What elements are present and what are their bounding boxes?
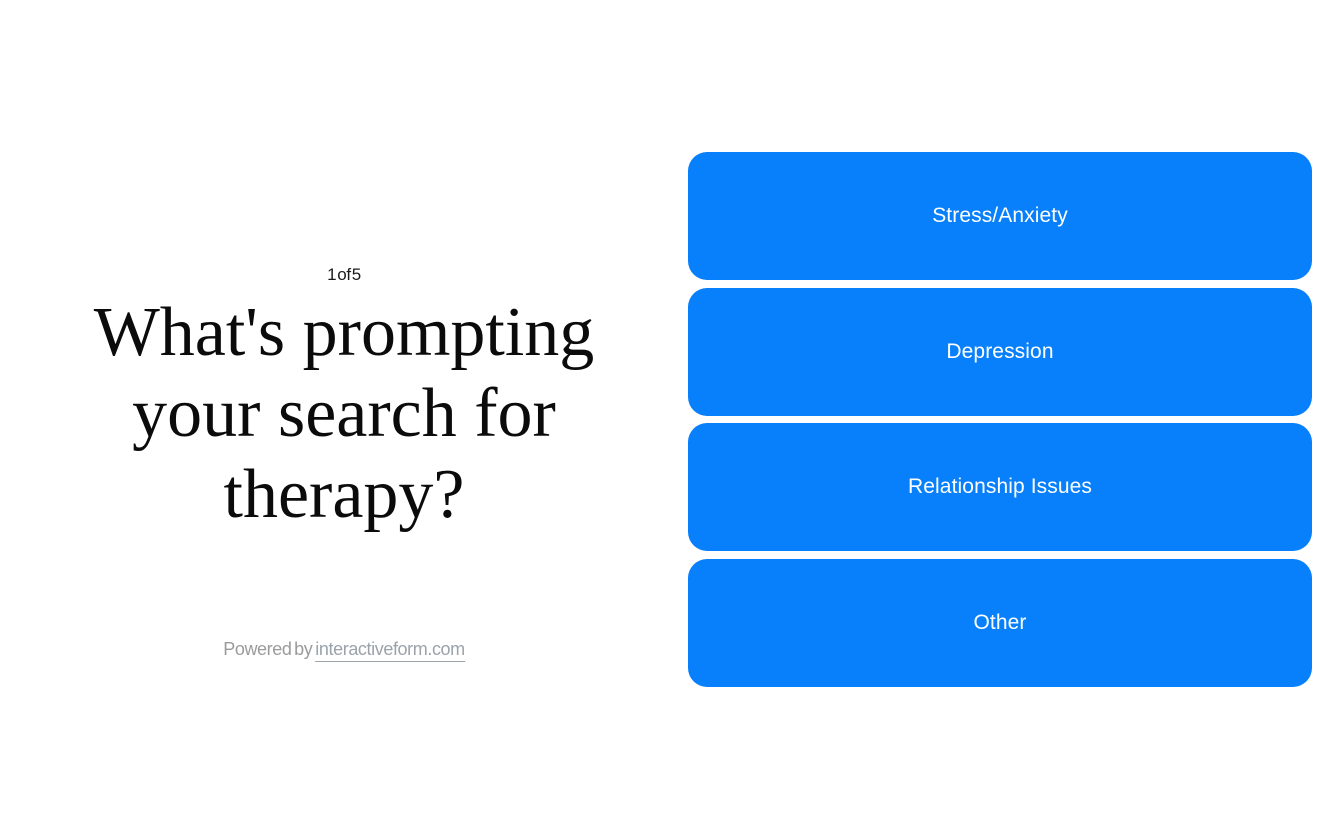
option-button-other[interactable]: Other <box>688 559 1312 687</box>
option-button-depression[interactable]: Depression <box>688 288 1312 416</box>
option-label: Other <box>973 610 1026 636</box>
form-stage: 1 of 5 What's prompting your search for … <box>0 0 1344 840</box>
step-counter: 1 of 5 <box>79 264 609 286</box>
option-label: Depression <box>946 339 1053 365</box>
option-label: Stress/Anxiety <box>932 203 1068 229</box>
interactiveform-link[interactable]: interactiveform.com <box>315 639 464 662</box>
option-label: Relationship Issues <box>908 474 1092 500</box>
option-button-stress-anxiety[interactable]: Stress/Anxiety <box>688 152 1312 280</box>
page-title: What's prompting your search for therapy… <box>79 292 609 535</box>
question-panel: 1 of 5 What's prompting your search for … <box>0 0 688 840</box>
answer-options-list: Stress/Anxiety Depression Relationship I… <box>688 152 1312 687</box>
option-button-relationship-issues[interactable]: Relationship Issues <box>688 423 1312 551</box>
powered-by-footer: Powered byinteractiveform.com <box>223 637 465 661</box>
powered-by-label: Powered by <box>223 639 312 659</box>
question-block: 1 of 5 What's prompting your search for … <box>79 264 609 535</box>
